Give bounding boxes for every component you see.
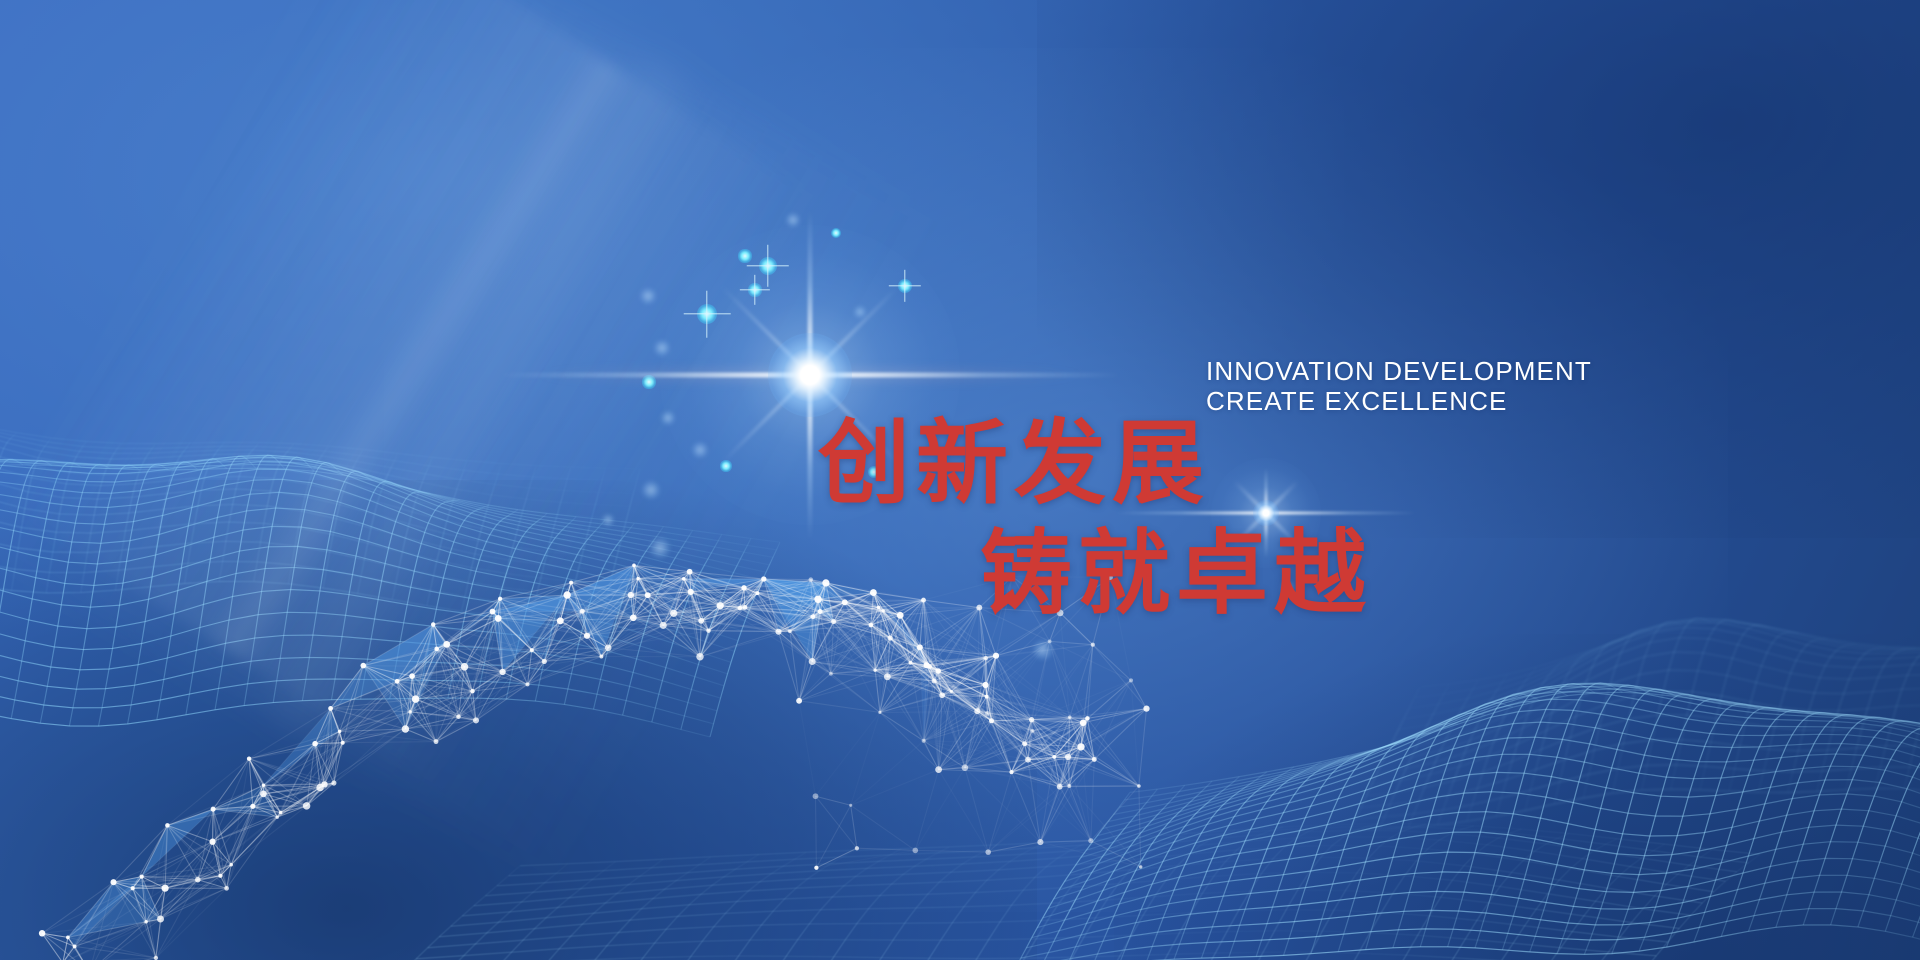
sparkle-dot [692,442,709,459]
sparkle-dot [640,288,657,305]
sparkle-dot [831,228,842,239]
sparkle-dot [697,304,717,324]
headline-chinese-line-2: 铸就卓越 [980,528,1372,620]
sparkle-dot [748,283,761,296]
sparkle-dot [661,411,675,425]
sparkle-cross-h [740,289,770,290]
sparkle-dot [786,213,800,227]
headline-english-line-1: INNOVATION DEVELOPMENT [1206,356,1592,387]
hero-banner: 创新发展 铸就卓越 INNOVATION DEVELOPMENT CREATE … [0,0,1920,960]
sparkle-cross-v [706,291,707,338]
sparkle-cross-h [747,265,789,266]
sparkle-cross-v [904,270,905,302]
sparkle-cross-h [889,285,921,286]
sparkle-dot [642,375,655,388]
sparkle-cross-h [684,313,731,314]
sparkle-dot [642,481,660,499]
sparkle-cross-v [754,275,755,305]
sparkle-dot [854,306,867,319]
headline-english-line-2: CREATE EXCELLENCE [1206,386,1507,417]
sparkle-dot [898,279,912,293]
sparkle-cross-v [767,245,768,287]
sparkle-dot [720,460,731,471]
sparkle-dot [738,249,751,262]
sparkle-dot [650,538,669,557]
sparkle-dot [654,340,669,355]
headline-chinese-line-1: 创新发展 [818,418,1210,510]
headline-block: 创新发展 铸就卓越 INNOVATION DEVELOPMENT CREATE … [810,400,1710,700]
sparkle-dot [759,257,777,275]
sparkle-dot [602,514,615,527]
